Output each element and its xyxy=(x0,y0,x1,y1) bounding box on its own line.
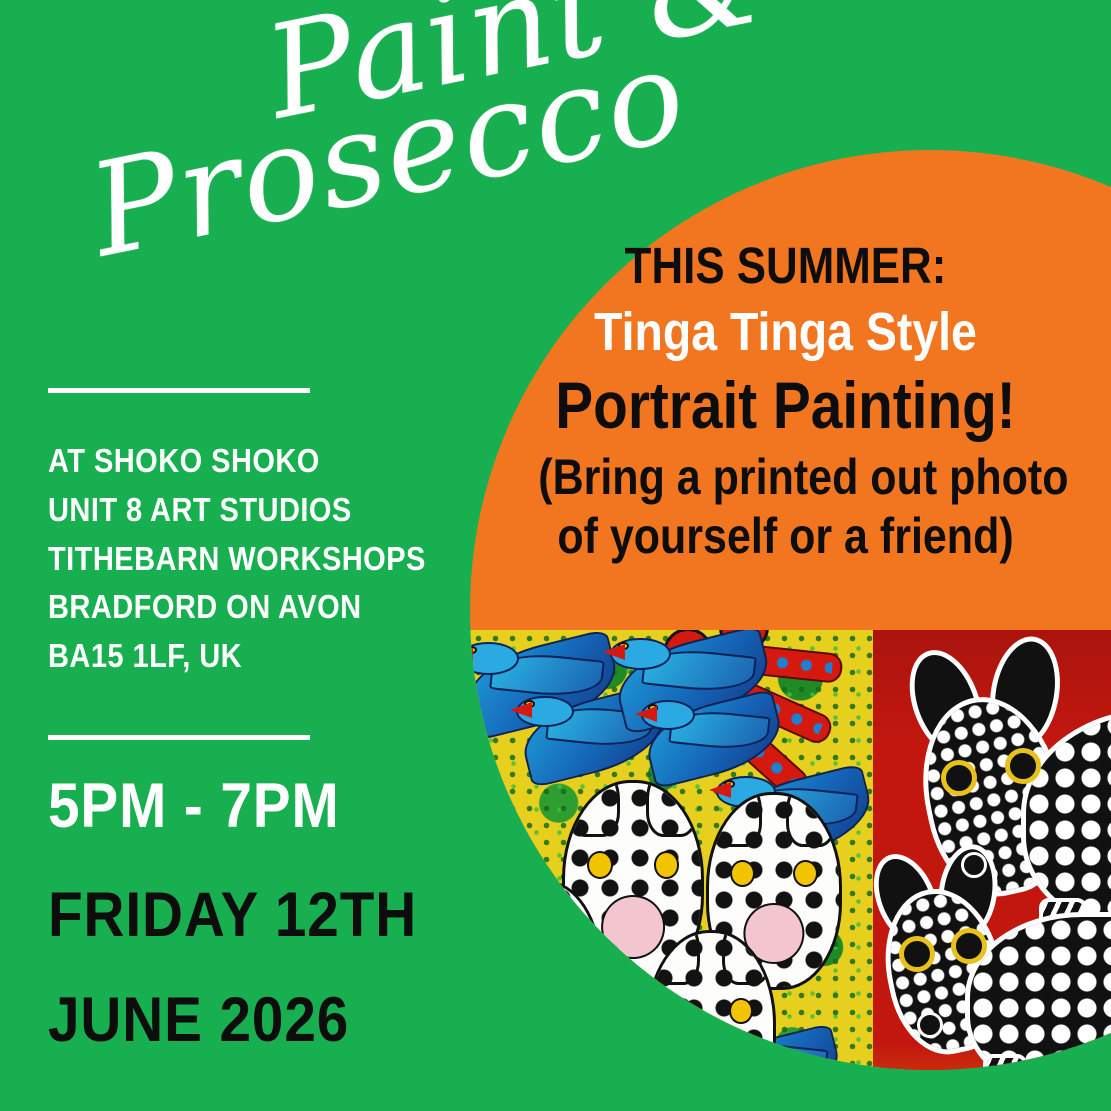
event-date-line-1: FRIDAY 12TH xyxy=(48,884,417,947)
artwork-left-birds-panel xyxy=(470,630,873,1070)
event-time: 5PM - 7PM xyxy=(48,775,417,838)
promo-line-tinga-tinga-style: Tinga Tinga Style xyxy=(538,302,1033,362)
promo-text-block: THIS SUMMER: Tinga Tinga Style Portrait … xyxy=(498,238,1073,565)
event-date-line-2: JUNE 2026 xyxy=(48,989,417,1052)
poster-canvas: THIS SUMMER: Tinga Tinga Style Portrait … xyxy=(0,0,1111,1111)
schedule-block: 5PM - 7PM FRIDAY 12TH JUNE 2026 xyxy=(48,775,417,1052)
address-line-5: BA15 1LF, UK xyxy=(48,632,400,681)
venue-address: AT SHOKO SHOKO UNIT 8 ART STUDIOS TITHEB… xyxy=(48,437,400,681)
promo-line-bring-photo: (Bring a printed out photo xyxy=(538,449,1033,506)
promo-line-this-summer: THIS SUMMER: xyxy=(538,238,1033,293)
leopard-figure xyxy=(646,930,776,1070)
address-line-2: UNIT 8 ART STUDIOS xyxy=(48,486,400,535)
artwork-right-antelope-panel xyxy=(873,630,1111,1070)
address-line-4: BRADFORD ON AVON xyxy=(48,583,400,632)
bird-figure xyxy=(646,704,778,770)
promo-line-portrait-painting: Portrait Painting! xyxy=(538,369,1033,442)
address-line-3: TITHEBARN WORKSHOPS xyxy=(48,535,400,584)
artwork-strip xyxy=(470,630,1111,1070)
address-line-1: AT SHOKO SHOKO xyxy=(48,437,400,486)
antelope-figure-lower xyxy=(873,630,1111,1070)
venue-info-block: AT SHOKO SHOKO UNIT 8 ART STUDIOS TITHEB… xyxy=(48,388,448,681)
leopard-figure xyxy=(484,880,602,1062)
promo-line-yourself-or-friend: of yourself or a friend) xyxy=(538,508,1033,565)
divider-top xyxy=(48,388,310,393)
divider-bottom xyxy=(48,735,310,740)
